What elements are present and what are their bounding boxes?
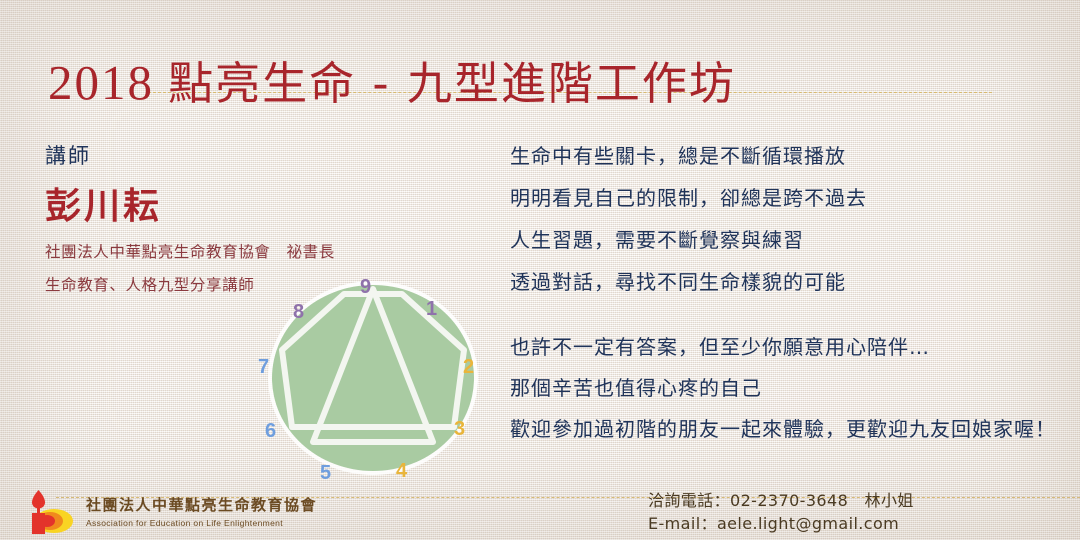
speaker-name: 彭川耘	[45, 177, 335, 229]
enneagram-number-8: 8	[293, 301, 304, 324]
enneagram-diagram: 9 1 2 3 4 5 6 7 8	[258, 272, 488, 484]
speaker-credential-1: 社團法人中華點亮生命教育協會 祕書長	[45, 240, 335, 262]
enneagram-number-1: 1	[426, 298, 437, 321]
speaker-role-label: 講師	[45, 140, 335, 170]
description-line: 歡迎參加過初階的朋友一起來體驗，更歡迎九友回娘家喔！	[510, 419, 1056, 439]
speaker-block: 講師 彭川耘 社團法人中華點亮生命教育協會 祕書長 生命教育、人格九型分享講師	[45, 140, 335, 295]
organization-logo: 社團法人中華點亮生命教育協會 Association for Education…	[22, 487, 317, 535]
title-year: 2018	[48, 55, 154, 110]
contact-info: 洽詢電話：02-2370-3648 林小姐 E-mail：aele.light@…	[648, 489, 914, 535]
description-line: 明明看見自己的限制，卻總是跨不過去	[510, 188, 867, 208]
candle-flame-icon	[22, 487, 80, 535]
description-paragraph-2: 也許不一定有答案，但至少你願意用心陪伴… 那個辛苦也值得心疼的自己 歡迎參加過初…	[510, 337, 1056, 460]
organization-name-block: 社團法人中華點亮生命教育協會 Association for Education…	[86, 494, 317, 528]
contact-phone: 洽詢電話：02-2370-3648 林小姐	[648, 489, 914, 512]
page-title: 2018 點亮生命 - 九型進階工作坊	[48, 47, 736, 112]
description-line: 也許不一定有答案，但至少你願意用心陪伴…	[510, 337, 1056, 357]
enneagram-number-7: 7	[258, 356, 269, 379]
enneagram-number-2: 2	[463, 356, 474, 379]
description-line: 那個辛苦也值得心疼的自己	[510, 378, 1056, 398]
organization-name-cn: 社團法人中華點亮生命教育協會	[86, 494, 317, 515]
enneagram-number-9: 9	[360, 276, 371, 299]
enneagram-number-4: 4	[396, 460, 407, 483]
description-line: 透過對話，尋找不同生命樣貌的可能	[510, 272, 867, 292]
description-paragraph-1: 生命中有些關卡，總是不斷循環播放 明明看見自己的限制，卻總是跨不過去 人生習題，…	[510, 146, 867, 314]
organization-name-en: Association for Education on Life Enligh…	[86, 518, 317, 528]
enneagram-number-5: 5	[320, 462, 331, 485]
enneagram-number-6: 6	[265, 420, 276, 443]
description-line: 生命中有些關卡，總是不斷循環播放	[510, 146, 867, 166]
enneagram-number-3: 3	[454, 418, 465, 441]
speaker-credential-2: 生命教育、人格九型分享講師	[45, 273, 335, 295]
poster-canvas: 2018 點亮生命 - 九型進階工作坊 講師 彭川耘 社團法人中華點亮生命教育協…	[0, 0, 1080, 540]
description-line: 人生習題，需要不斷覺察與練習	[510, 230, 867, 250]
title-main: 點亮生命 - 九型進階工作坊	[168, 57, 736, 110]
contact-email: E-mail：aele.light@gmail.com	[648, 512, 914, 535]
